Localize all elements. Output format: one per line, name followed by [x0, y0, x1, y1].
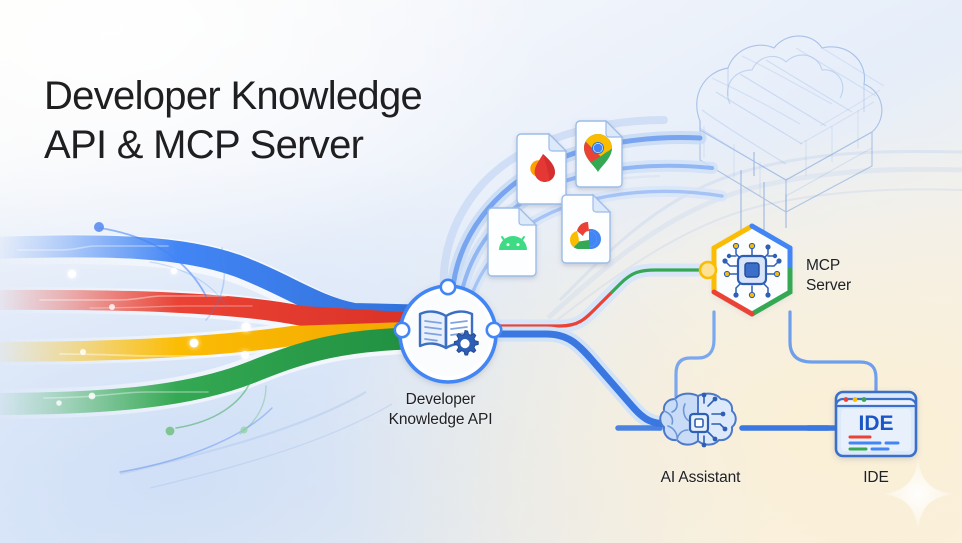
page-title: Developer Knowledge API & MCP Server [44, 72, 422, 170]
ide-window-icon: IDE [836, 392, 916, 456]
hub-port-top[interactable] [441, 280, 455, 294]
infographic-canvas: IDE Developer Knowledge API & MCP Server… [0, 0, 962, 543]
cloud-doc-card[interactable] [562, 195, 610, 263]
ide-node[interactable]: IDE [836, 392, 916, 456]
hub-port-right[interactable] [487, 323, 501, 337]
hub-label: Developer Knowledge API [333, 390, 548, 430]
android-icon [499, 236, 527, 250]
firebase-doc-card[interactable] [517, 134, 566, 204]
brain-circuit-icon [660, 393, 736, 448]
mcp-server-label: MCP Server [806, 256, 956, 296]
ide-label: IDE [815, 468, 937, 488]
hub-port-left[interactable] [395, 323, 409, 337]
android-doc-card[interactable] [488, 208, 536, 276]
ide-screen-text: IDE [858, 412, 893, 435]
ai-assistant-node[interactable] [660, 393, 736, 448]
ai-assistant-label: AI Assistant [613, 468, 788, 488]
maps-doc-card[interactable] [576, 121, 622, 187]
mcp-port-left[interactable] [700, 262, 716, 278]
